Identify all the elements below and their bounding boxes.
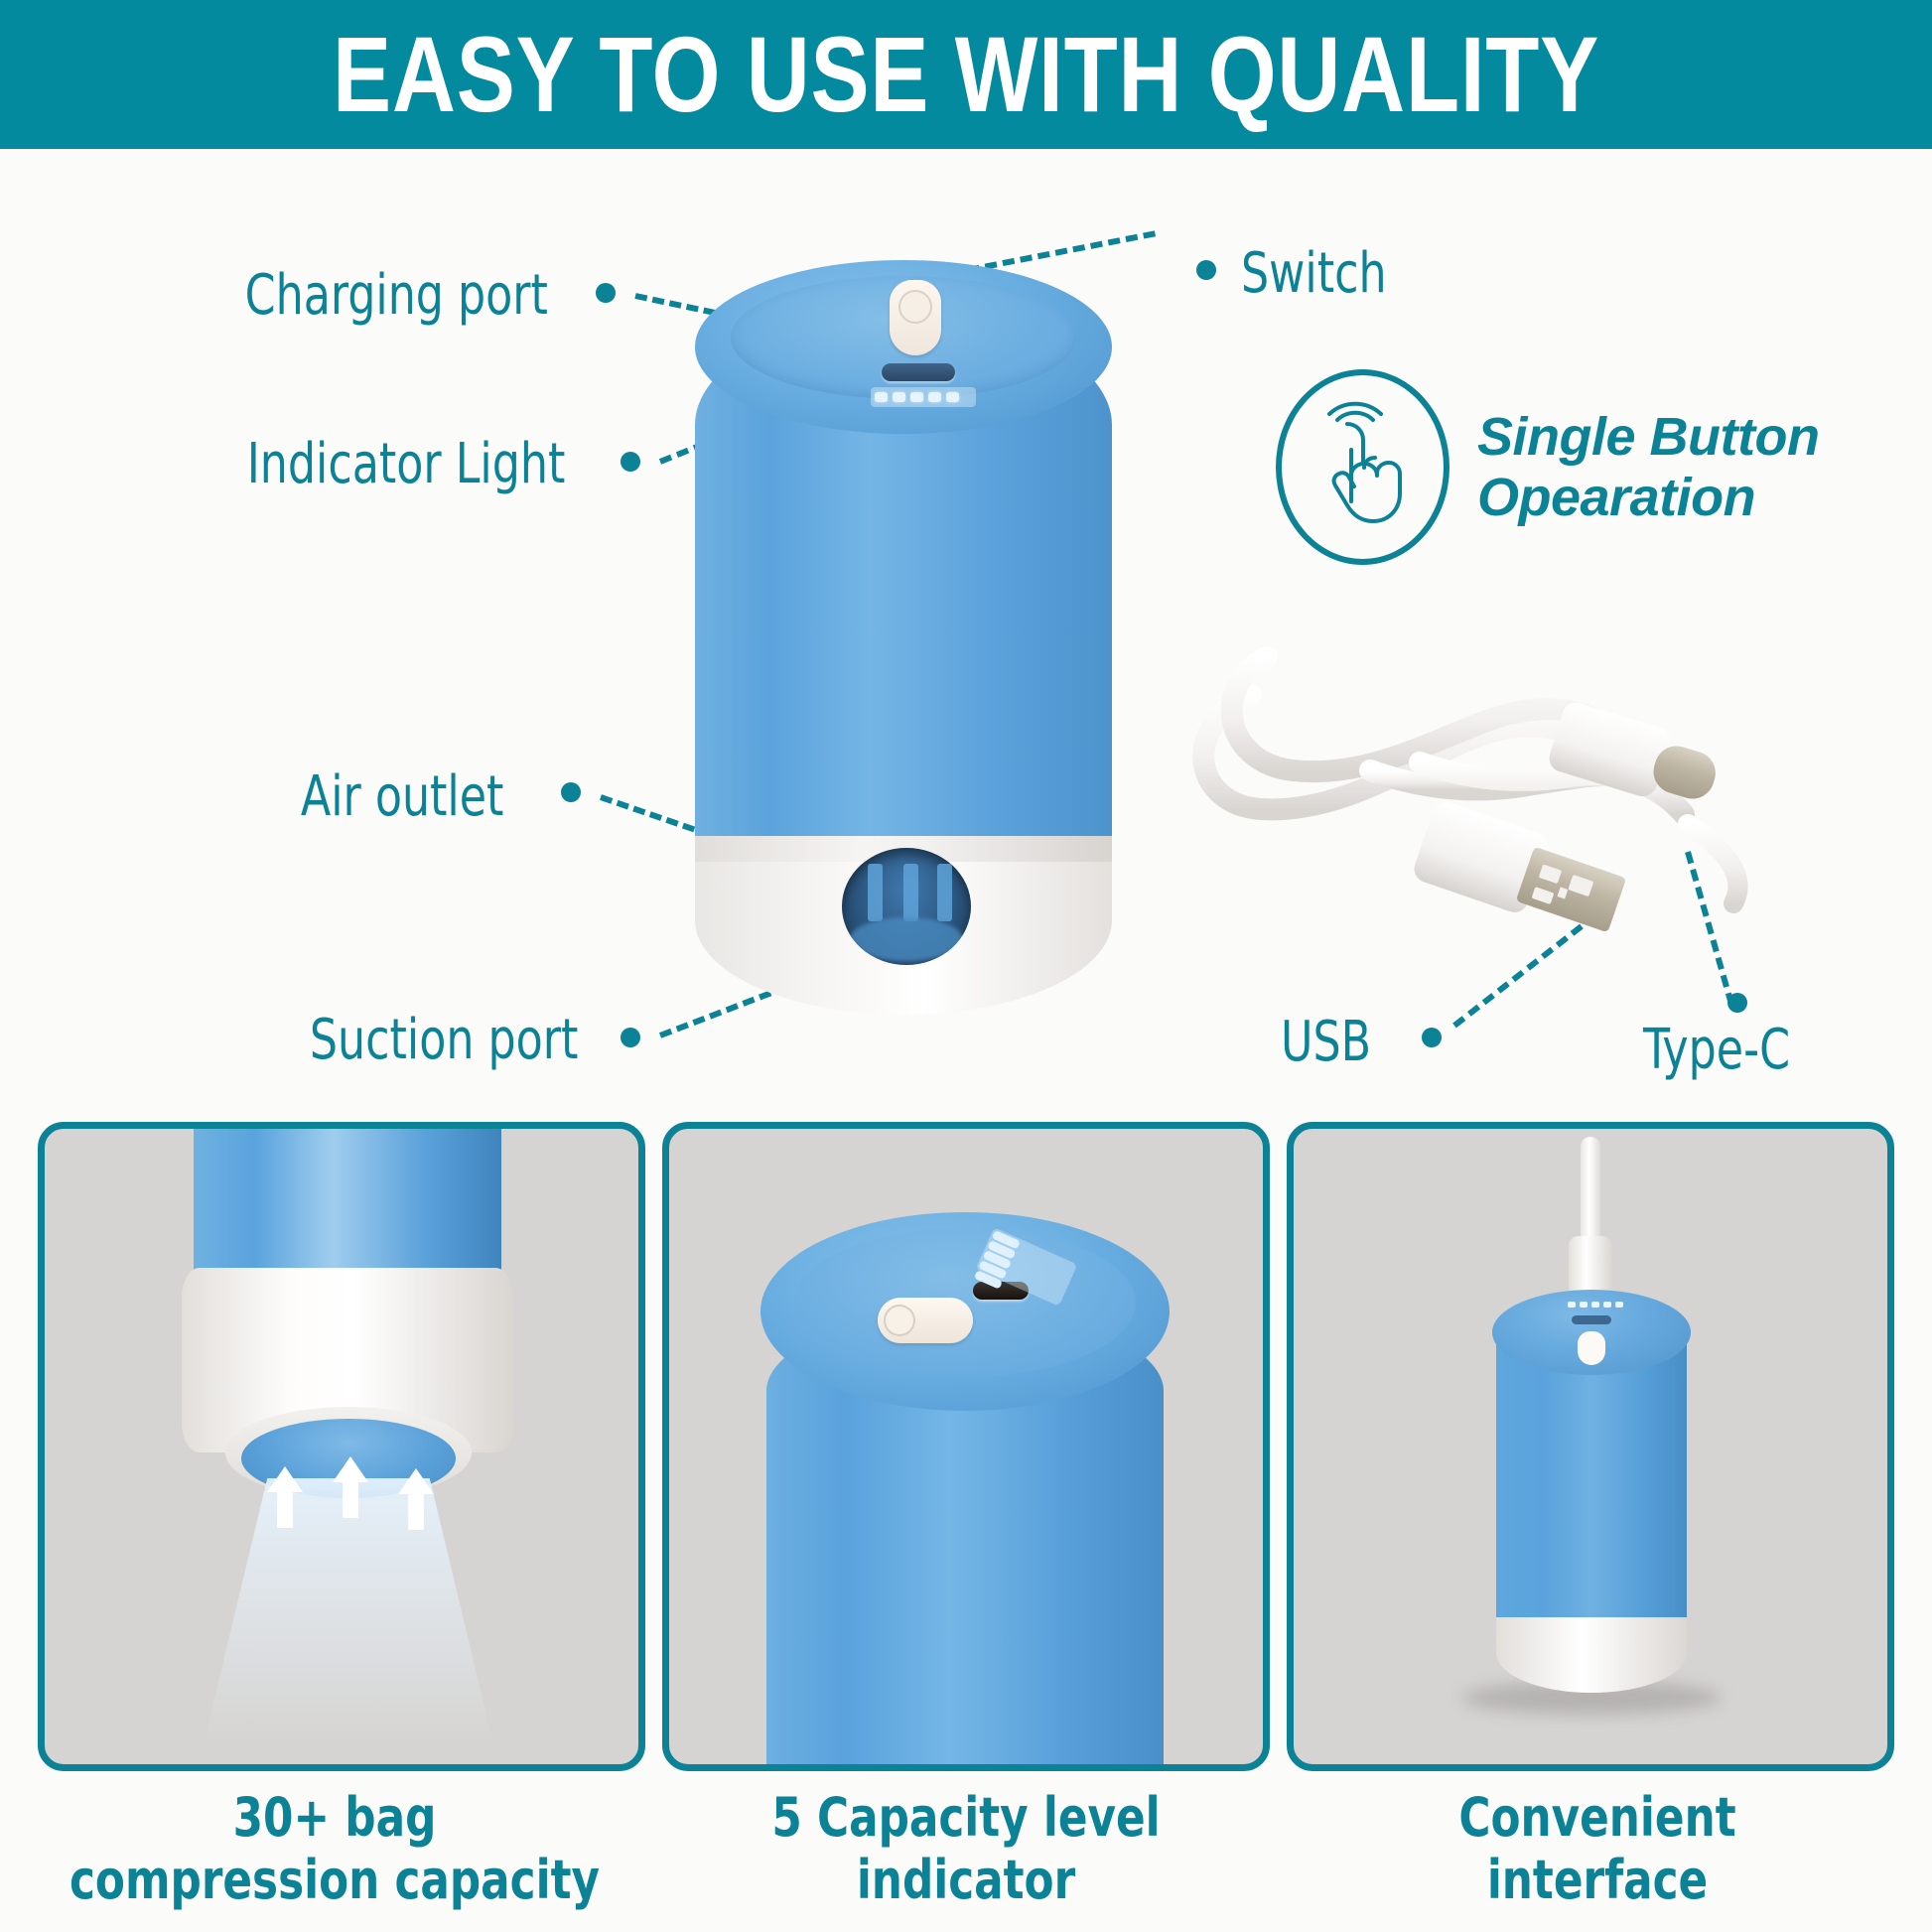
callout-dot-indicator-light bbox=[621, 452, 640, 472]
panel-suction bbox=[38, 1122, 645, 1771]
page-title: EASY TO USE WITH QUALITY bbox=[333, 21, 1599, 128]
outlet-rib bbox=[868, 864, 883, 921]
caption-line-2: interface bbox=[1330, 1850, 1864, 1912]
callout-dot-suction-port bbox=[621, 1028, 640, 1047]
product-device-main bbox=[695, 260, 1112, 1025]
indicator-led bbox=[1603, 1302, 1611, 1308]
panel3-indicator-led-row bbox=[1568, 1302, 1623, 1308]
feature-panels bbox=[38, 1122, 1894, 1757]
callout-label-switch: Switch bbox=[1241, 246, 1387, 302]
indicator-led bbox=[1568, 1302, 1576, 1308]
indicator-led bbox=[1591, 1302, 1599, 1308]
outlet-rib bbox=[903, 864, 918, 921]
callout-label-suction-port: Suction port bbox=[310, 1013, 578, 1068]
panel-interface bbox=[1287, 1122, 1894, 1771]
callout-label-type-c: Type-C bbox=[1643, 1023, 1790, 1078]
panel3-device-body bbox=[1496, 1333, 1687, 1641]
badge-line-1: Single Button bbox=[1477, 407, 1819, 467]
indicator-led bbox=[928, 392, 941, 402]
indicator-led bbox=[946, 392, 959, 402]
panel3-power-switch-button[interactable] bbox=[1578, 1331, 1605, 1365]
single-button-operation-text: Single Button Opearation bbox=[1477, 407, 1819, 527]
caption-line-2: indicator bbox=[699, 1850, 1233, 1912]
caption-panel-interface: Convenient interface bbox=[1330, 1787, 1864, 1911]
callout-label-air-outlet: Air outlet bbox=[301, 769, 504, 825]
panel3-device bbox=[1492, 1290, 1691, 1707]
panel1-device-body bbox=[194, 1122, 501, 1278]
panel2-device-lid bbox=[760, 1212, 1170, 1411]
panel3-cable-wire bbox=[1581, 1137, 1600, 1248]
callout-label-indicator-light: Indicator Light bbox=[247, 437, 566, 492]
badge-line-2: Opearation bbox=[1477, 468, 1819, 527]
panel2-power-switch-button[interactable] bbox=[878, 1298, 973, 1343]
indicator-led bbox=[910, 392, 923, 402]
power-switch-button[interactable] bbox=[890, 280, 941, 355]
caption-panel-suction: 30+ bag compression capacity bbox=[68, 1787, 602, 1911]
callout-dot-air-outlet bbox=[561, 782, 581, 802]
indicator-led bbox=[1615, 1302, 1623, 1308]
panel3-white-base bbox=[1496, 1617, 1687, 1693]
single-button-operation-badge: Single Button Opearation bbox=[1276, 369, 1819, 565]
outlet-rib bbox=[937, 864, 952, 921]
indicator-led bbox=[1580, 1302, 1587, 1308]
callout-dot-charging-port bbox=[596, 283, 616, 303]
indicator-led bbox=[875, 392, 888, 402]
usb-cable-illustration bbox=[1172, 576, 1807, 993]
caption-line-1: Convenient bbox=[1330, 1787, 1864, 1850]
indicator-led-row bbox=[871, 387, 976, 407]
callout-label-charging-port: Charging port bbox=[245, 268, 548, 324]
caption-panel-indicator: 5 Capacity level indicator bbox=[699, 1787, 1233, 1911]
caption-line-1: 5 Capacity level bbox=[699, 1787, 1233, 1850]
caption-line-2: compression capacity bbox=[68, 1850, 602, 1912]
panel3-charging-port-slot bbox=[1572, 1315, 1611, 1324]
charging-port-slot bbox=[882, 363, 955, 381]
panel2-device bbox=[760, 1212, 1170, 1771]
air-outlet-opening bbox=[842, 848, 971, 965]
callout-dot-switch bbox=[1196, 260, 1216, 280]
indicator-led bbox=[893, 392, 905, 402]
panel3-device-lid bbox=[1492, 1290, 1691, 1375]
panel-indicator bbox=[662, 1122, 1270, 1771]
callout-label-usb: USB bbox=[1281, 1015, 1371, 1070]
device-lid bbox=[695, 260, 1112, 434]
header-banner: EASY TO USE WITH QUALITY bbox=[0, 0, 1932, 149]
panel1-airflow bbox=[204, 1478, 493, 1744]
callout-dot-usb bbox=[1422, 1028, 1442, 1047]
caption-line-1: 30+ bag bbox=[68, 1787, 602, 1850]
tap-hand-icon bbox=[1276, 369, 1449, 565]
infographic-root: EASY TO USE WITH QUALITY Charging port I… bbox=[0, 0, 1932, 1932]
